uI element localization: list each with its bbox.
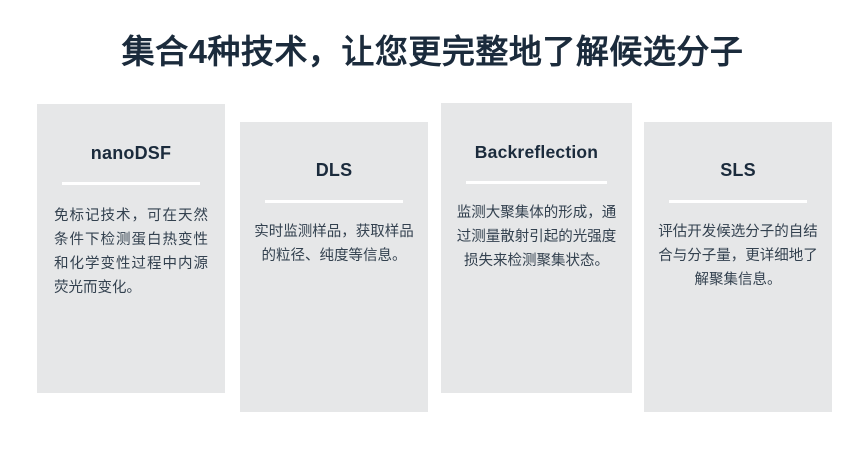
card-heading: DLS bbox=[240, 160, 428, 181]
card-body-text: 评估开发候选分子的自结合与分子量，更详细地了解聚集信息。 bbox=[658, 220, 818, 292]
card-divider bbox=[62, 182, 200, 185]
card-divider bbox=[265, 200, 403, 203]
technology-card-nanodsf[interactable]: nanoDSF 免标记技术，可在天然条件下检测蛋白热变性和化学变性过程中内源荧光… bbox=[37, 104, 225, 393]
card-body-text: 实时监测样品，获取样品的粒径、纯度等信息。 bbox=[254, 220, 414, 268]
slide-root: 集合4种技术，让您更完整地了解候选分子 nanoDSF 免标记技术，可在天然条件… bbox=[0, 0, 865, 452]
card-heading: nanoDSF bbox=[37, 143, 225, 164]
card-body-text: 监测大聚集体的形成，通过测量散射引起的光强度损失来检测聚集状态。 bbox=[455, 201, 618, 273]
card-heading: Backreflection bbox=[441, 142, 632, 163]
card-divider bbox=[669, 200, 807, 203]
card-body-text: 免标记技术，可在天然条件下检测蛋白热变性和化学变性过程中内源荧光而变化。 bbox=[51, 204, 211, 300]
card-heading: SLS bbox=[644, 160, 832, 181]
technology-card-row: nanoDSF 免标记技术，可在天然条件下检测蛋白热变性和化学变性过程中内源荧光… bbox=[0, 0, 865, 452]
technology-card-backreflection[interactable]: Backreflection 监测大聚集体的形成，通过测量散射引起的光强度损失来… bbox=[441, 103, 632, 393]
technology-card-dls[interactable]: DLS 实时监测样品，获取样品的粒径、纯度等信息。 bbox=[240, 122, 428, 412]
technology-card-sls[interactable]: SLS 评估开发候选分子的自结合与分子量，更详细地了解聚集信息。 bbox=[644, 122, 832, 412]
card-divider bbox=[466, 181, 607, 184]
